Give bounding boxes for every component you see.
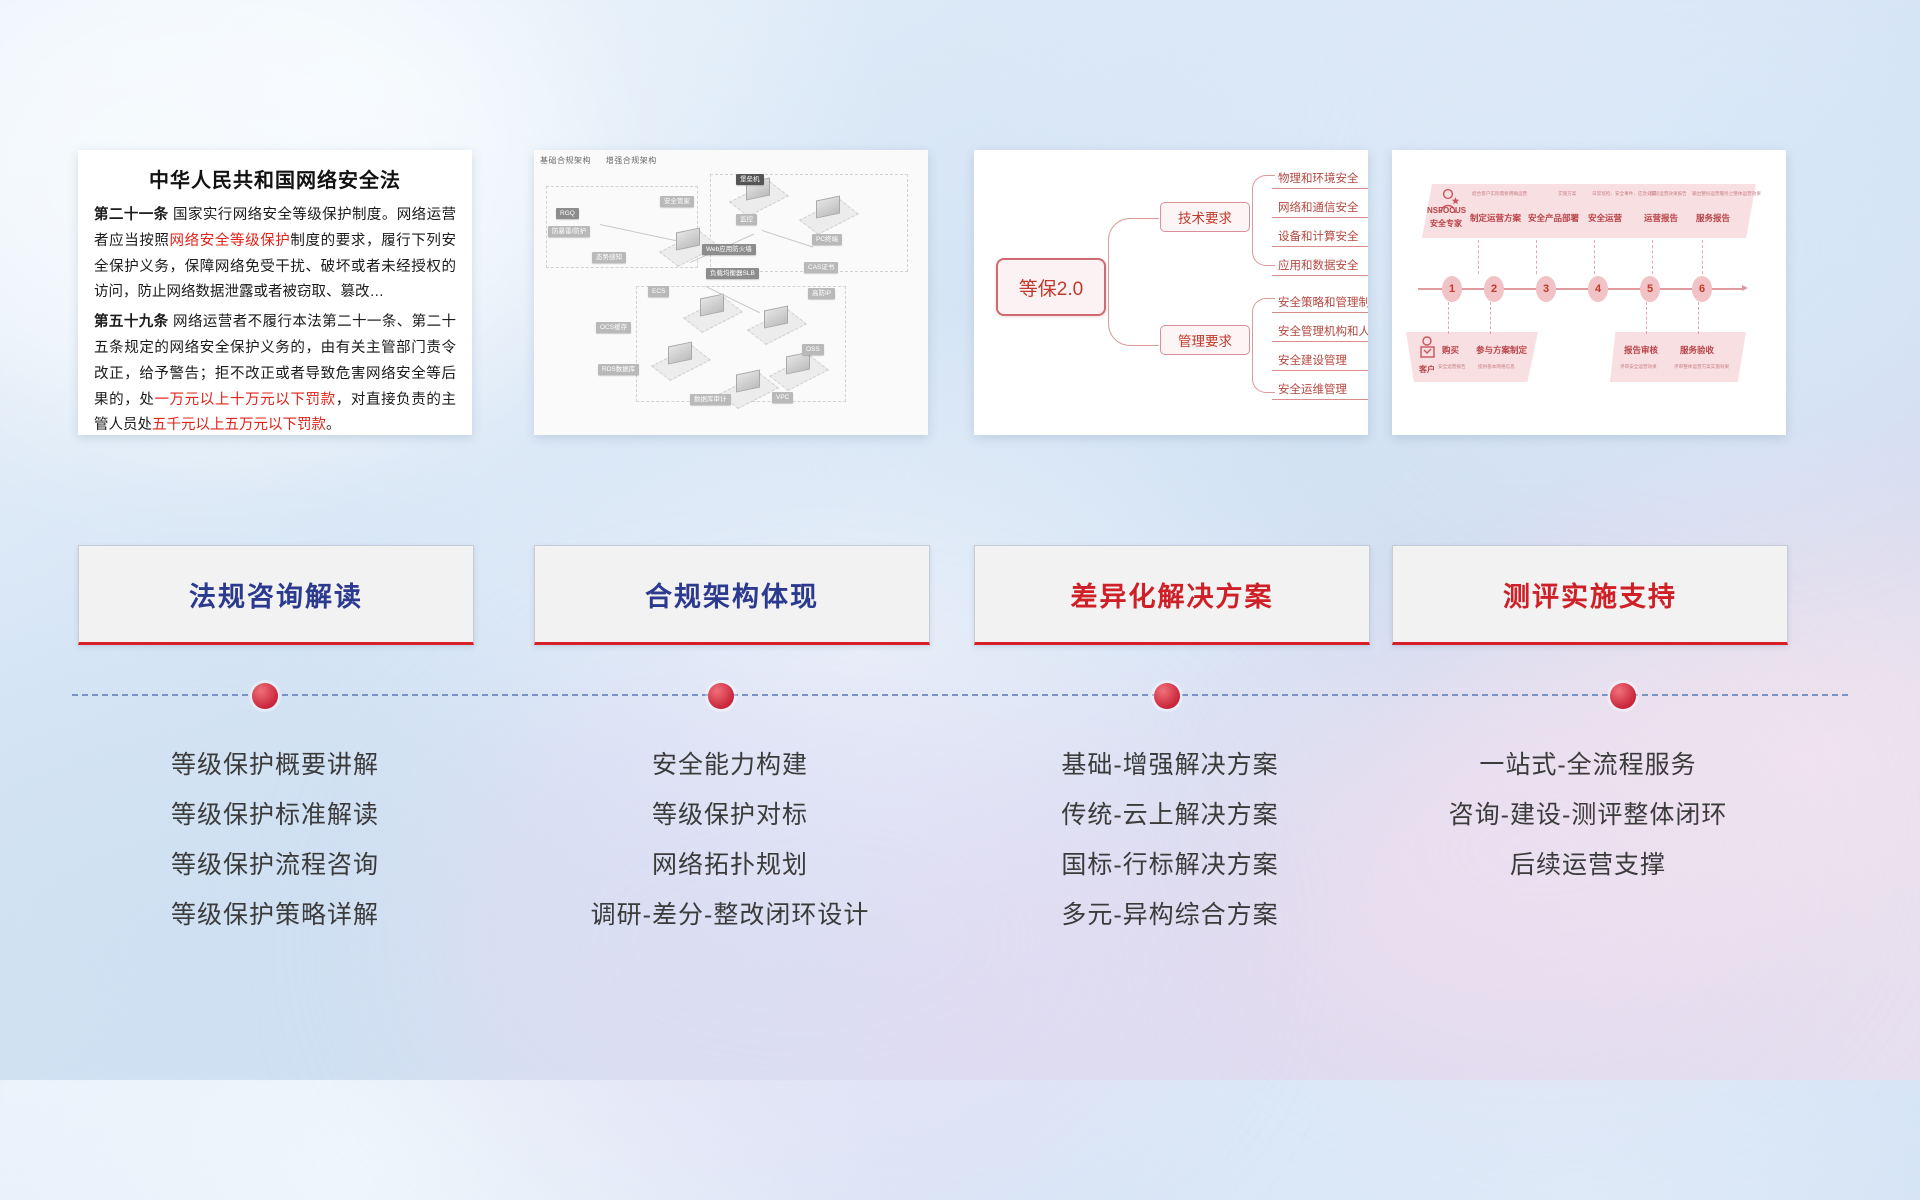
label-box-compliance-architecture[interactable]: 合规架构体现 (534, 545, 930, 645)
nsfocus-timeline: NSFOCUS 安全专家 客户 结合客户实际需要明确运营 实施方案 日常巡检、安… (1392, 150, 1786, 435)
bottom-step-note-3: 评审安全运营效果 (1620, 364, 1657, 370)
timeline-dot-3[interactable] (1154, 683, 1180, 709)
mindmap-leaf-construction: 安全建设管理 (1272, 350, 1368, 371)
axis-node-2: 2 (1484, 276, 1504, 302)
mindmap-curve-tech (1108, 218, 1159, 291)
top-step-note-5: 输出整份运营服务之整体运营效果 (1692, 191, 1761, 197)
card-cybersecurity-law: 中华人民共和国网络安全法 第二十一条 国家实行网络安全等级保护制度。网络运营者应… (78, 150, 472, 435)
list-item: 等级保护标准解读 (65, 790, 485, 840)
mindmap-root-node: 等保2.0 (996, 258, 1106, 316)
card-row: 中华人民共和国网络安全法 第二十一条 国家实行网络安全等级保护制度。网络运营者应… (0, 150, 1920, 440)
label-text-1: 法规咨询解读 (189, 575, 363, 614)
law-title: 中华人民共和国网络安全法 (94, 164, 456, 193)
axis-node-3: 3 (1536, 276, 1556, 302)
list-differentiated-solution: 基础-增强解决方案 传统-云上解决方案 国标-行标解决方案 多元-异构综合方案 (960, 740, 1380, 940)
top-step-note-2: 实施方案 (1558, 191, 1576, 197)
list-item: 传统-云上解决方案 (960, 790, 1380, 840)
bottom-step-title-4: 服务验收 (1680, 344, 1714, 356)
label-text-2: 合规架构体现 (645, 575, 819, 614)
top-step-title-2: 安全产品部署 (1528, 212, 1579, 224)
customer-role-label: 客户 (1419, 364, 1435, 375)
list-regulation-consulting: 等级保护概要讲解 等级保护标准解读 等级保护流程咨询 等级保护策略详解 (65, 740, 485, 940)
arch-header-left: 基础合规架构 (540, 156, 591, 165)
list-item: 多元-异构综合方案 (960, 890, 1380, 940)
mindmap-curve-mgmt (1108, 285, 1159, 346)
tick-bottom-6 (1698, 302, 1699, 334)
list-item: 等级保护概要讲解 (65, 740, 485, 790)
customer-person-icon (1418, 336, 1438, 362)
mindmap-leaf-policy: 安全策略和管理制度 (1272, 292, 1368, 313)
list-evaluation-support: 一站式-全流程服务 咨询-建设-测评整体闭环 后续运营支撑 (1378, 740, 1798, 890)
bottom-step-title-1: 购买 (1442, 344, 1459, 356)
article-59-highlight-2: 五千元以上五万元以下罚款 (152, 417, 326, 433)
list-item: 网络拓扑规划 (520, 840, 940, 890)
arch-node-label-oss: OSS (802, 344, 824, 355)
dashed-timeline (72, 694, 1848, 698)
expert-role-line2: 安全专家 (1430, 218, 1462, 229)
nsfocus-customer-band-right (1610, 332, 1746, 382)
arch-node-label-gaofangip: 高防IP (808, 288, 835, 299)
list-item: 等级保护对标 (520, 790, 940, 840)
label-row: 法规咨询解读 合规架构体现 差异化解决方案 测评实施支持 (0, 545, 1920, 645)
architecture-diagram: 基础合规架构 增强合规架构 (534, 150, 928, 435)
law-article-21: 第二十一条 国家实行网络安全等级保护制度。网络运营者应当按照网络安全等级保护制度… (94, 203, 456, 306)
tick-bottom-2 (1490, 302, 1491, 334)
bottom-step-note-4: 评审整体运营方案实施效果 (1674, 364, 1729, 370)
tick-top-5 (1652, 240, 1653, 274)
tick-top-2 (1478, 240, 1479, 274)
arch-node-label-ocs: OCS缓存 (596, 322, 631, 333)
arch-header-right: 增强合规架构 (606, 156, 657, 165)
bottom-step-note-2: 提供基本网络信息 (1478, 364, 1515, 370)
mindmap-leaf-physical: 物理和环境安全 (1272, 168, 1368, 189)
timeline-dot-4[interactable] (1610, 683, 1636, 709)
mindmap-leaf-operation: 安全运维管理 (1272, 379, 1368, 400)
bottom-step-title-2: 参与方案制定 (1476, 344, 1527, 356)
label-box-regulation-consulting[interactable]: 法规咨询解读 (78, 545, 474, 645)
arch-node-label-slb: 负载均衡器SLB (706, 268, 759, 279)
architecture-canvas: 堡垒机 RGQ 防暴雷/防护 安全管家 态势感知 监控 PC终端 Web应用防火… (540, 166, 922, 429)
mindmap-leaf-application: 应用和数据安全 (1272, 255, 1368, 276)
mindmap: 等保2.0 技术要求 管理要求 物理和环境安全 网络和通信安全 设备和计算安全 … (974, 150, 1368, 435)
card-nsfocus-timeline: NSFOCUS 安全专家 客户 结合客户实际需要明确运营 实施方案 日常巡检、安… (1392, 150, 1786, 435)
card-compliance-architecture: 基础合规架构 增强合规架构 (534, 150, 928, 435)
tick-top-3 (1536, 240, 1537, 274)
list-item: 基础-增强解决方案 (960, 740, 1380, 790)
arch-node-label-cas: CAS证书 (804, 262, 838, 273)
article-59-label: 第五十九条 (94, 314, 169, 330)
mindmap-branch-management: 管理要求 (1160, 325, 1250, 355)
arch-node-label-dbaudit: 数据库审计 (690, 394, 731, 405)
axis-node-6: 6 (1692, 276, 1712, 302)
list-item: 一站式-全流程服务 (1378, 740, 1798, 790)
top-step-title-4: 运营报告 (1644, 212, 1678, 224)
arch-node-label-ecs: ECS (648, 286, 669, 297)
arch-node-label-guard: 安全管家 (660, 196, 694, 207)
top-step-note-3: 日常巡检、安全事件、应急处置 (1592, 191, 1656, 197)
list-item: 咨询-建设-测评整体闭环 (1378, 790, 1798, 840)
tick-top-4 (1594, 240, 1595, 274)
timeline-dot-1[interactable] (252, 683, 278, 709)
label-box-evaluation-support[interactable]: 测评实施支持 (1392, 545, 1788, 645)
law-article-59: 第五十九条 网络运营者不履行本法第二十一条、第二十五条规定的网络安全保护义务的，… (94, 310, 456, 435)
label-text-4: 测评实施支持 (1503, 575, 1677, 614)
top-step-note-1: 结合客户实际需要明确运营 (1472, 191, 1527, 197)
mindmap-branch-technical: 技术要求 (1160, 202, 1250, 232)
mindmap-leaf-org: 安全管理机构和人员 (1272, 321, 1368, 342)
label-box-differentiated-solution[interactable]: 差异化解决方案 (974, 545, 1370, 645)
bottom-step-note-1: 安全运营报告 (1438, 364, 1466, 370)
arch-node-label-waf: Web应用防火墙 (702, 244, 756, 255)
mindmap-leaf-network: 网络和通信安全 (1272, 197, 1368, 218)
article-59-text-c: 。 (326, 417, 341, 433)
axis-node-4: 4 (1588, 276, 1608, 302)
arch-node-label-situation: 态势感知 (592, 252, 626, 263)
mindmap-leaf-device: 设备和计算安全 (1272, 226, 1368, 247)
axis-node-5: 5 (1640, 276, 1660, 302)
top-step-title-3: 安全运营 (1588, 212, 1622, 224)
article-21-label: 第二十一条 (94, 207, 169, 223)
timeline-dot-2[interactable] (708, 683, 734, 709)
list-item: 等级保护流程咨询 (65, 840, 485, 890)
axis-node-1: 1 (1442, 276, 1462, 302)
card-mindmap-dengbao: 等保2.0 技术要求 管理要求 物理和环境安全 网络和通信安全 设备和计算安全 … (974, 150, 1368, 435)
arch-node-label-bastion: 堡垒机 (736, 174, 764, 185)
arch-node-label-rds: RDS数据库 (598, 364, 639, 375)
tick-top-6 (1702, 240, 1703, 274)
label-text-3: 差异化解决方案 (1071, 575, 1274, 614)
arch-node-label-ddos: 防暴雷/防护 (548, 226, 590, 237)
list-item: 国标-行标解决方案 (960, 840, 1380, 890)
expert-role-line1: NSFOCUS (1427, 206, 1466, 215)
law-document: 中华人民共和国网络安全法 第二十一条 国家实行网络安全等级保护制度。网络运营者应… (78, 150, 472, 435)
top-step-title-1: 制定运营方案 (1470, 212, 1521, 224)
list-item: 安全能力构建 (520, 740, 940, 790)
top-step-note-4: 阶段运营效果报告 (1650, 191, 1687, 197)
tick-bottom-1 (1448, 302, 1449, 334)
arch-node-label-monitor: 监控 (736, 214, 757, 225)
list-item: 等级保护策略详解 (65, 890, 485, 940)
architecture-header: 基础合规架构 增强合规架构 (540, 155, 669, 166)
bottom-step-title-3: 报告审核 (1624, 344, 1658, 356)
arch-node-label-vpc: VPC (772, 392, 793, 403)
arch-node-label-pc: PC终端 (812, 234, 842, 245)
article-59-highlight-1: 一万元以上十万元以下罚款 (154, 392, 335, 408)
list-item: 后续运营支撑 (1378, 840, 1798, 890)
list-compliance-architecture: 安全能力构建 等级保护对标 网络拓扑规划 调研-差分-整改闭环设计 (520, 740, 940, 940)
article-21-highlight: 网络安全等级保护 (170, 233, 291, 249)
tick-bottom-5 (1646, 302, 1647, 334)
arch-node-label-rgq: RGQ (556, 208, 579, 219)
list-item: 调研-差分-整改闭环设计 (520, 890, 940, 940)
top-step-title-5: 服务报告 (1696, 212, 1730, 224)
